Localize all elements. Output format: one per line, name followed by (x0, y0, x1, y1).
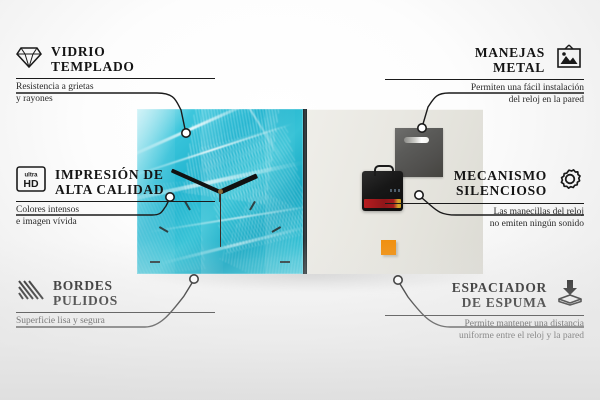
callout-description: Superficie lisa y segura (16, 316, 231, 328)
callout-vidrio-templado: VIDRIO TEMPLADO Resistencia a grietas y … (16, 44, 231, 105)
callout-description: Resistencia a grietas y rayones (16, 82, 231, 105)
foam-spacer-pad (381, 240, 396, 255)
callout-rule (385, 203, 584, 204)
ultra-hd-icon: ultra HD (16, 166, 46, 197)
callout-header: BORDES PULIDOS (16, 278, 231, 308)
svg-text:HD: HD (23, 178, 39, 190)
callout-mecanismo-silencioso: MECANISMO SILENCIOSO Las manecillas del … (369, 166, 584, 230)
callout-header: ESPACIADOR DE ESPUMA (369, 278, 584, 311)
callout-header: VIDRIO TEMPLADO (16, 44, 231, 74)
callout-title: MECANISMO SILENCIOSO (454, 168, 547, 198)
callout-bordes-pulidos: BORDES PULIDOS Superficie lisa y segura (16, 278, 231, 328)
callout-impresion-alta-calidad: ultra HD IMPRESIÓN DE ALTA CALIDAD Color… (16, 166, 231, 228)
callout-rule (16, 312, 215, 313)
arrow-down-on-pad-icon (556, 278, 584, 311)
callout-header: ultra HD IMPRESIÓN DE ALTA CALIDAD (16, 166, 231, 197)
callout-manejas-metal: MANEJAS METAL Permiten una fácil instala… (369, 44, 584, 106)
callout-description: Las manecillas del reloj no emiten ningú… (369, 207, 584, 230)
callout-title: VIDRIO TEMPLADO (51, 44, 135, 74)
callout-rule (16, 201, 215, 202)
callout-title: BORDES PULIDOS (53, 278, 118, 308)
callout-rule (385, 315, 584, 316)
framed-picture-hanging-icon (554, 44, 584, 75)
product-infographic: VIDRIO TEMPLADO Resistencia a grietas y … (0, 0, 600, 400)
callout-description: Permiten una fácil instalación del reloj… (369, 83, 584, 106)
callout-header: MECANISMO SILENCIOSO (369, 166, 584, 199)
diamond-icon (16, 45, 42, 74)
callout-header: MANEJAS METAL (369, 44, 584, 75)
hanger-slot (404, 137, 429, 143)
callout-title: MANEJAS METAL (475, 45, 545, 75)
clock-tick (150, 261, 160, 263)
callout-rule (385, 79, 584, 80)
clock-tick (271, 226, 281, 233)
polished-edges-icon (16, 279, 44, 308)
callout-rule (16, 78, 215, 79)
clock-tick (249, 200, 256, 210)
callout-description: Permite mantener una distancia uniforme … (369, 319, 584, 342)
callout-description: Colores intensos e imagen vívida (16, 205, 231, 228)
gear-icon (556, 166, 584, 199)
clock-tick (280, 261, 290, 263)
callout-title: ESPACIADOR DE ESPUMA (452, 280, 547, 310)
callout-title: IMPRESIÓN DE ALTA CALIDAD (55, 167, 164, 197)
callout-espaciador-espuma: ESPACIADOR DE ESPUMA Permite mantener un… (369, 278, 584, 342)
